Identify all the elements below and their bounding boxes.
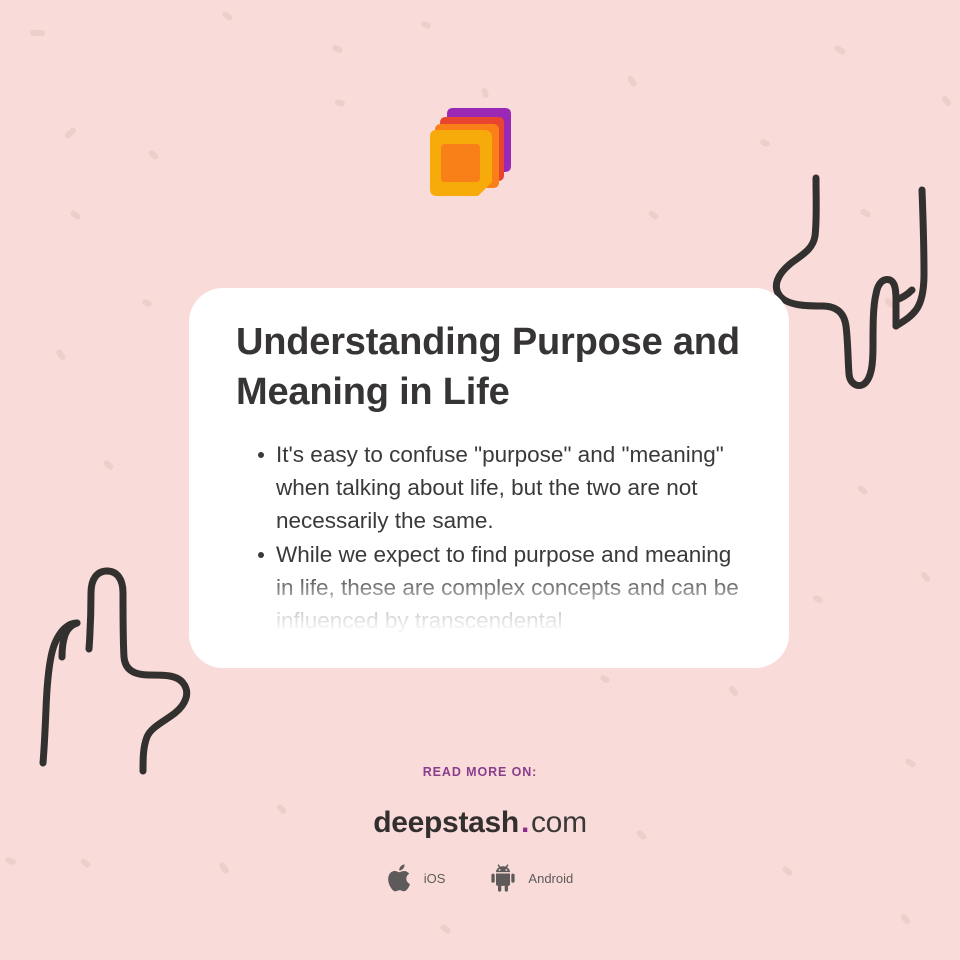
wordmark-dot: . [519, 806, 531, 839]
confetti-dash [728, 685, 740, 697]
confetti-dash [64, 126, 78, 139]
deepstash-logo [429, 104, 515, 198]
list-item: It's easy to confuse "purpose" and "mean… [258, 438, 749, 537]
confetti-dash [626, 74, 637, 87]
page-title: Understanding Purpose and Meaning in Lif… [236, 318, 749, 418]
pointing-up-hand-icon [25, 565, 205, 780]
idea-bullet-list: It's easy to confuse "purpose" and "mean… [236, 438, 749, 637]
deepstash-wordmark[interactable]: deepstash.com [0, 806, 960, 840]
confetti-dash [420, 20, 431, 29]
confetti-dash [884, 297, 896, 309]
card-content: Understanding Purpose and Meaning in Lif… [189, 288, 789, 668]
android-icon [487, 862, 519, 894]
footer: READ MORE ON: deepstash.com iOS [0, 765, 960, 894]
confetti-dash [30, 30, 45, 37]
confetti-dash [599, 674, 611, 684]
confetti-dash [859, 208, 872, 219]
confetti-dash [900, 913, 912, 925]
poster-canvas: Understanding Purpose and Meaning in Lif… [0, 0, 960, 960]
read-more-label: READ MORE ON: [0, 765, 960, 779]
idea-card: Understanding Purpose and Meaning in Lif… [189, 288, 789, 668]
list-item: While we expect to find purpose and mean… [258, 538, 749, 637]
wordmark-tld: com [531, 806, 587, 839]
confetti-dash [439, 923, 451, 934]
confetti-dash [856, 484, 868, 496]
confetti-dash [833, 44, 846, 55]
ios-label: iOS [424, 871, 446, 886]
confetti-dash [69, 209, 81, 220]
confetti-dash [55, 348, 67, 361]
confetti-dash [331, 44, 344, 55]
confetti-dash [812, 594, 824, 604]
confetti-dash [147, 149, 159, 161]
confetti-dash [141, 298, 153, 308]
ios-badge[interactable]: iOS [387, 862, 446, 894]
confetti-dash [102, 459, 114, 471]
confetti-dash [334, 99, 345, 107]
wordmark-name: deepstash [373, 806, 519, 839]
store-badges: iOS [0, 862, 960, 894]
confetti-dash [759, 138, 771, 148]
confetti-dash [920, 571, 932, 583]
confetti-dash [480, 87, 489, 98]
android-badge[interactable]: Android [487, 862, 573, 894]
apple-icon [387, 862, 415, 894]
confetti-dash [221, 10, 233, 22]
confetti-dash [647, 209, 659, 221]
confetti-dash [941, 95, 953, 107]
android-label: Android [528, 871, 573, 886]
